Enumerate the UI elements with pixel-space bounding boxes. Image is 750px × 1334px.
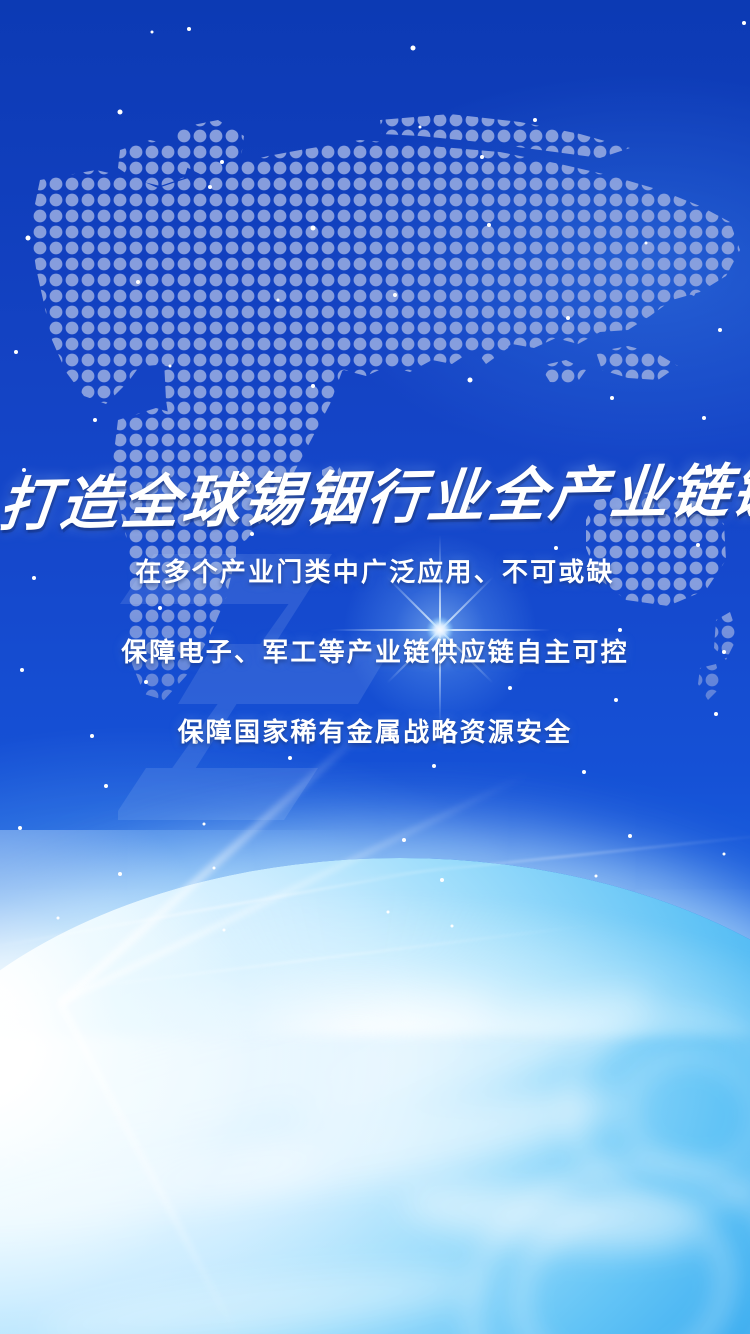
poster-canvas: 打造全球锡铟行业全产业链链主 在多个产业门类中广泛应用、不可或缺 保障电子、军工… <box>0 0 750 1334</box>
subtitle-list: 在多个产业门类中广泛应用、不可或缺 保障电子、军工等产业链供应链自主可控 保障国… <box>0 552 750 792</box>
subtitle-line-2: 保障电子、军工等产业链供应链自主可控 <box>0 632 750 712</box>
page-title: 打造全球锡铟行业全产业链链主 <box>0 456 750 542</box>
subtitle-line-1: 在多个产业门类中广泛应用、不可或缺 <box>0 552 750 632</box>
subtitle-line-3: 保障国家稀有金属战略资源安全 <box>0 712 750 792</box>
